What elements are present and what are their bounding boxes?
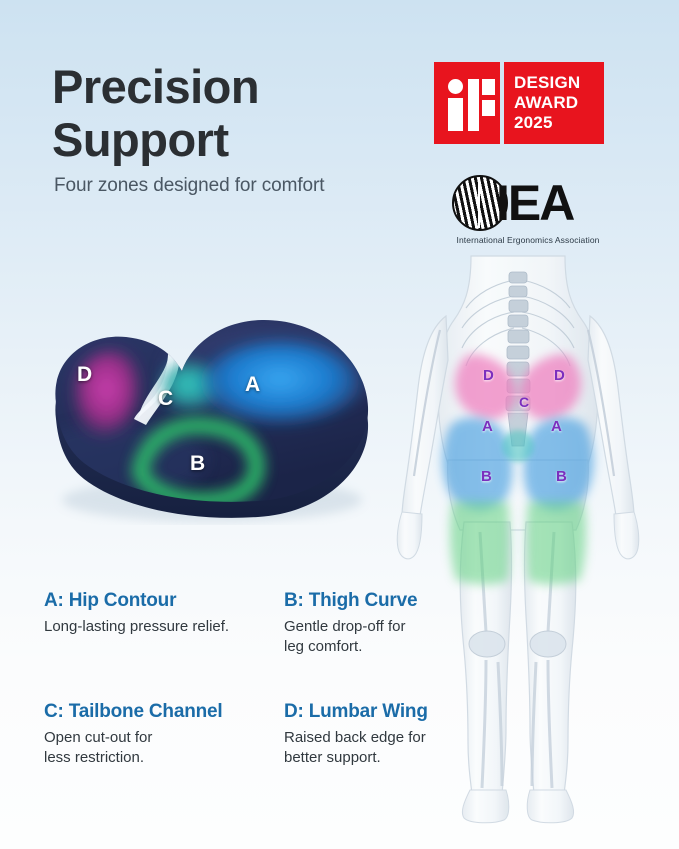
body-zone-b-right <box>527 502 587 585</box>
if-i-dot-icon <box>448 79 463 94</box>
body-zone-a-left <box>443 417 513 510</box>
zone-legend-grid: A: Hip Contour Long-lasting pressure rel… <box>44 590 464 768</box>
legend-heading-d: D: Lumbar Wing <box>284 701 464 723</box>
iea-logo-row: IEA <box>452 172 604 234</box>
legend-desc-c: Open cut-out forless restriction. <box>44 728 284 768</box>
legend-desc-d: Raised back edge forbetter support. <box>284 728 464 768</box>
page-subtitle: Four zones designed for comfort <box>54 175 324 197</box>
cushion-label-b: B <box>190 452 205 476</box>
legend-heading-b: B: Thigh Curve <box>284 590 464 612</box>
cushion-illustration <box>22 275 392 525</box>
title-line-1: Precision <box>52 60 412 113</box>
cushion-label-a: A <box>245 373 260 397</box>
body-zone-c <box>502 430 534 462</box>
if-f-stem-icon <box>468 79 479 131</box>
body-label-a-right: A <box>551 418 562 435</box>
legend-item-d: D: Lumbar Wing Raised back edge forbette… <box>284 701 464 768</box>
body-label-a-left: A <box>482 418 493 435</box>
body-label-c: C <box>519 394 529 410</box>
body-label-d-left: D <box>483 367 494 384</box>
if-i-stem-icon <box>448 98 463 131</box>
zone-legend: A: Hip Contour Long-lasting pressure rel… <box>44 590 464 768</box>
if-design-award-badge: DESIGN AWARD 2025 <box>434 62 604 144</box>
if-award-line-3: 2025 <box>514 113 604 133</box>
cushion-label-c: C <box>158 387 173 411</box>
knee-joints <box>469 631 566 657</box>
body-zone-b-left <box>450 502 510 585</box>
if-f-bar-top-icon <box>482 79 495 95</box>
legend-item-b: B: Thigh Curve Gentle drop-off forleg co… <box>284 590 464 657</box>
if-award-text: DESIGN AWARD 2025 <box>504 62 604 144</box>
legend-heading-c: C: Tailbone Channel <box>44 701 284 723</box>
body-label-d-right: D <box>554 367 565 384</box>
cushion-label-d: D <box>77 363 92 387</box>
title-line-2: Support <box>52 113 412 166</box>
iea-logo: IEA International Ergonomics Association <box>452 172 604 245</box>
legend-heading-a: A: Hip Contour <box>44 590 284 612</box>
if-f-bar-bottom-icon <box>482 100 495 116</box>
infographic-root: Precision Support Four zones designed fo… <box>0 0 679 849</box>
iea-caption: International Ergonomics Association <box>452 235 604 245</box>
legend-item-a: A: Hip Contour Long-lasting pressure rel… <box>44 590 284 657</box>
legend-desc-b: Gentle drop-off forleg comfort. <box>284 617 464 657</box>
if-logo-icon <box>434 62 500 144</box>
body-label-b-left: B <box>481 468 492 485</box>
legend-desc-a: Long-lasting pressure relief. <box>44 617 284 637</box>
iea-wordmark: IEA <box>496 178 573 228</box>
if-award-line-1: DESIGN <box>514 73 604 93</box>
page-title: Precision Support <box>52 60 412 166</box>
body-label-b-right: B <box>556 468 567 485</box>
cushion-zone-a <box>202 341 358 425</box>
legend-item-c: C: Tailbone Channel Open cut-out forless… <box>44 701 284 768</box>
if-award-line-2: AWARD <box>514 93 604 113</box>
